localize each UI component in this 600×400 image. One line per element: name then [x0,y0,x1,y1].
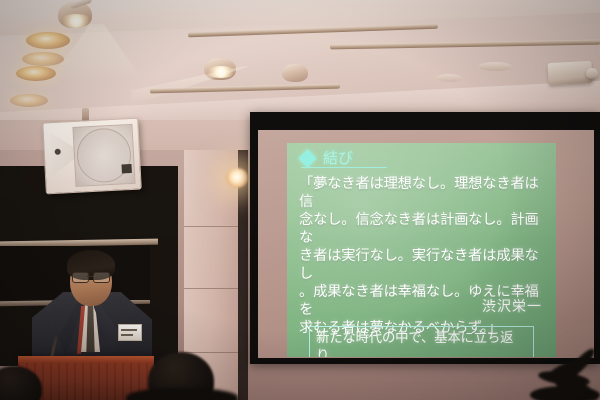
glasses-lens-left [72,272,89,283]
audience-shoulder-silhouette [126,388,238,400]
speaker-brand-badge [121,164,131,174]
plant-frond [530,386,600,400]
badge-text-line [121,334,133,336]
panel-seam [184,226,238,227]
downlight-icon [22,52,64,66]
downlight-icon [10,94,48,107]
presentation-photo-scene: 結び 「夢なき者は理想なし。理想なき者は信 念なし。信念なき者は計画なし。計画な… [0,0,600,400]
foreground-plant [528,356,600,400]
glasses-lens-right [93,272,110,283]
presenter-name-badge [118,324,142,341]
downlight-icon [26,32,70,49]
wall-sconce-light [226,168,248,188]
ceiling-vent [478,62,512,71]
slide-title-row: 結び [301,151,387,168]
slide-quote-line: 「夢なき者は理想なし。理想なき者は信 [299,175,546,211]
badge-text-line [121,329,137,331]
downlight-icon [16,66,56,81]
projector-lens [586,68,598,79]
slide-callout-box: 新たな時代の中で、基本に立ち返り、 TBKで互いの実りを享受しましょう。 [309,326,534,357]
speaker-cone [75,127,132,184]
slide-title: 結び [323,151,353,166]
slide-quote-line: 念なし。信念なき者は計画なし。計画な [299,211,546,247]
pa-speaker [42,118,142,195]
projected-slide: 結び 「夢なき者は理想なし。理想なき者は信 念なし。信念なき者は計画なし。計画な… [287,143,556,357]
presenter-glasses-icon [72,272,110,281]
ceiling-vent [436,74,462,82]
diamond-bullet-icon [298,149,316,167]
spotlight-icon [282,64,308,82]
speaker-grille [72,124,135,187]
panel-seam [184,288,238,289]
slide-attribution: 渋沢栄一 [482,296,542,316]
slide-quote-line: き者は実行なし。実行なき者は成果なし [299,247,546,283]
slide-callout-line: 新たな時代の中で、基本に立ち返り、 [316,330,527,357]
spotlight-glare [60,14,92,28]
podium-top-edge [18,356,154,363]
